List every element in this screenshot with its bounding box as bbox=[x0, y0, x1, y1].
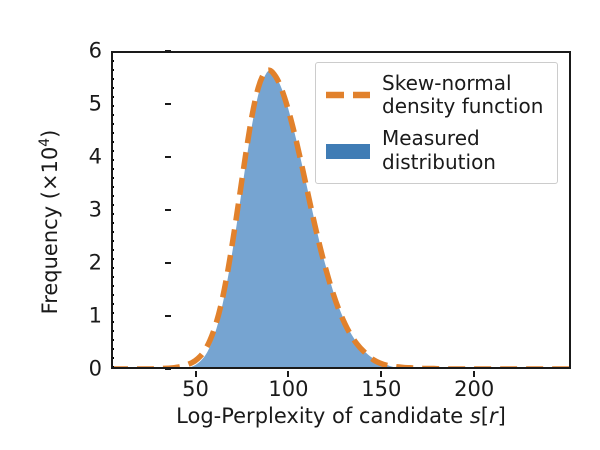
x-axis-title-bracket-open: [ bbox=[481, 404, 489, 428]
y-tick-label-1: 1 bbox=[89, 306, 102, 327]
x-tick-mark-150 bbox=[380, 371, 382, 377]
legend-label-measured: Measured distribution bbox=[382, 127, 496, 173]
x-axis-title-text: Log-Perplexity of candidate bbox=[176, 404, 470, 428]
y-axis-tick-labels: 0 1 2 3 4 5 6 bbox=[60, 51, 102, 369]
y-tick-label-6: 6 bbox=[89, 41, 102, 62]
x-axis-title-var-s: s bbox=[470, 404, 481, 428]
filled-rect-swatch-icon bbox=[325, 134, 371, 168]
x-axis-title-bracket-close: ] bbox=[498, 404, 506, 428]
y-axis-title-text: Frequency (×10 bbox=[38, 147, 62, 315]
x-axis-title-var-r: r bbox=[489, 404, 498, 428]
y-tick-label-5: 5 bbox=[89, 94, 102, 115]
legend-item-skew-normal[interactable]: Skew-normal density function bbox=[325, 72, 547, 118]
y-tick-label-0: 0 bbox=[89, 359, 102, 380]
legend-item-measured[interactable]: Measured distribution bbox=[325, 127, 547, 173]
x-axis-title: Log-Perplexity of candidate s[r] bbox=[111, 404, 571, 428]
y-axis-title: Frequency (×104) bbox=[38, 72, 62, 372]
x-tick-label-50: 50 bbox=[182, 379, 209, 400]
x-tick-label-200: 200 bbox=[454, 379, 494, 400]
figure-canvas: 0 1 2 3 4 5 6 Frequency (×104) 50 100 15… bbox=[0, 0, 600, 450]
legend-label-skew-normal: Skew-normal density function bbox=[382, 72, 543, 118]
y-tick-label-2: 2 bbox=[89, 253, 102, 274]
x-tick-mark-100 bbox=[287, 371, 289, 377]
x-tick-mark-50 bbox=[195, 371, 197, 377]
x-tick-label-100: 100 bbox=[268, 379, 308, 400]
y-axis-title-tail: ) bbox=[38, 130, 62, 138]
x-tick-mark-200 bbox=[473, 371, 475, 377]
x-tick-label-150: 150 bbox=[361, 379, 401, 400]
y-tick-label-3: 3 bbox=[89, 200, 102, 221]
x-axis-tick-labels: 50 100 150 200 bbox=[111, 371, 571, 403]
y-tick-label-4: 4 bbox=[89, 147, 102, 168]
dashed-line-swatch-icon bbox=[325, 78, 371, 112]
y-axis-title-exponent: 4 bbox=[37, 138, 53, 147]
legend[interactable]: Skew-normal density function Measured di… bbox=[315, 62, 558, 184]
